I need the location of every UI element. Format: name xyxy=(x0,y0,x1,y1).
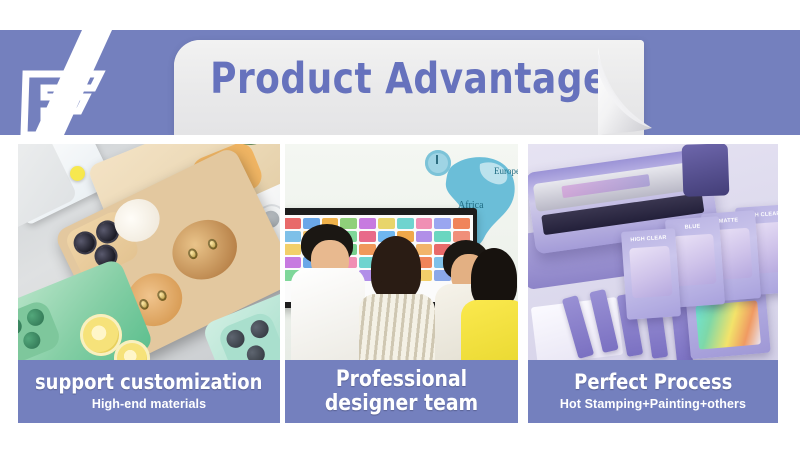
advantage-card-support-customization[interactable]: support customization High-end materials xyxy=(18,144,280,423)
wall-clock-icon xyxy=(425,150,451,176)
card-caption-title: Professional designer team xyxy=(291,368,512,416)
person-figure xyxy=(359,236,435,360)
map-label-europe: Europe xyxy=(494,166,518,176)
card-caption: support customization High-end materials xyxy=(18,360,280,423)
advantage-cards-row: support customization High-end materials… xyxy=(0,144,800,424)
title-card: Product Advantage xyxy=(174,40,644,135)
advantage-card-professional-designer-team[interactable]: Europe Africa xyxy=(285,144,518,423)
card-caption-subtitle: Hot Stamping+Painting+others xyxy=(560,397,746,411)
page-title: Product Advantage xyxy=(190,54,627,104)
advantage-card-perfect-process[interactable]: HIGH CLEAR MATTE BLUE HIGH CLEAR xyxy=(528,144,778,423)
card-caption: Perfect Process Hot Stamping+Painting+ot… xyxy=(528,360,778,423)
card-caption-title: Perfect Process xyxy=(574,372,732,393)
person-figure xyxy=(291,224,365,360)
retail-box-label: HIGH CLEAR xyxy=(621,234,675,244)
title-card-surface: Product Advantage xyxy=(174,40,644,135)
photo-phone-cases xyxy=(18,144,280,360)
card-caption-title: support customization xyxy=(35,372,262,393)
retail-box: HIGH CLEAR xyxy=(621,228,681,320)
slanted-f-logo-mark-icon xyxy=(8,30,178,135)
photo-designer-team: Europe Africa xyxy=(285,144,518,360)
card-caption-subtitle: High-end materials xyxy=(92,397,206,411)
person-figure xyxy=(461,248,518,360)
photo-cutting-machine: HIGH CLEAR MATTE BLUE HIGH CLEAR xyxy=(528,144,778,360)
card-caption: Professional designer team xyxy=(285,360,518,423)
header-banner: Product Advantage xyxy=(0,30,800,135)
yellow-marker-dot xyxy=(70,166,85,181)
